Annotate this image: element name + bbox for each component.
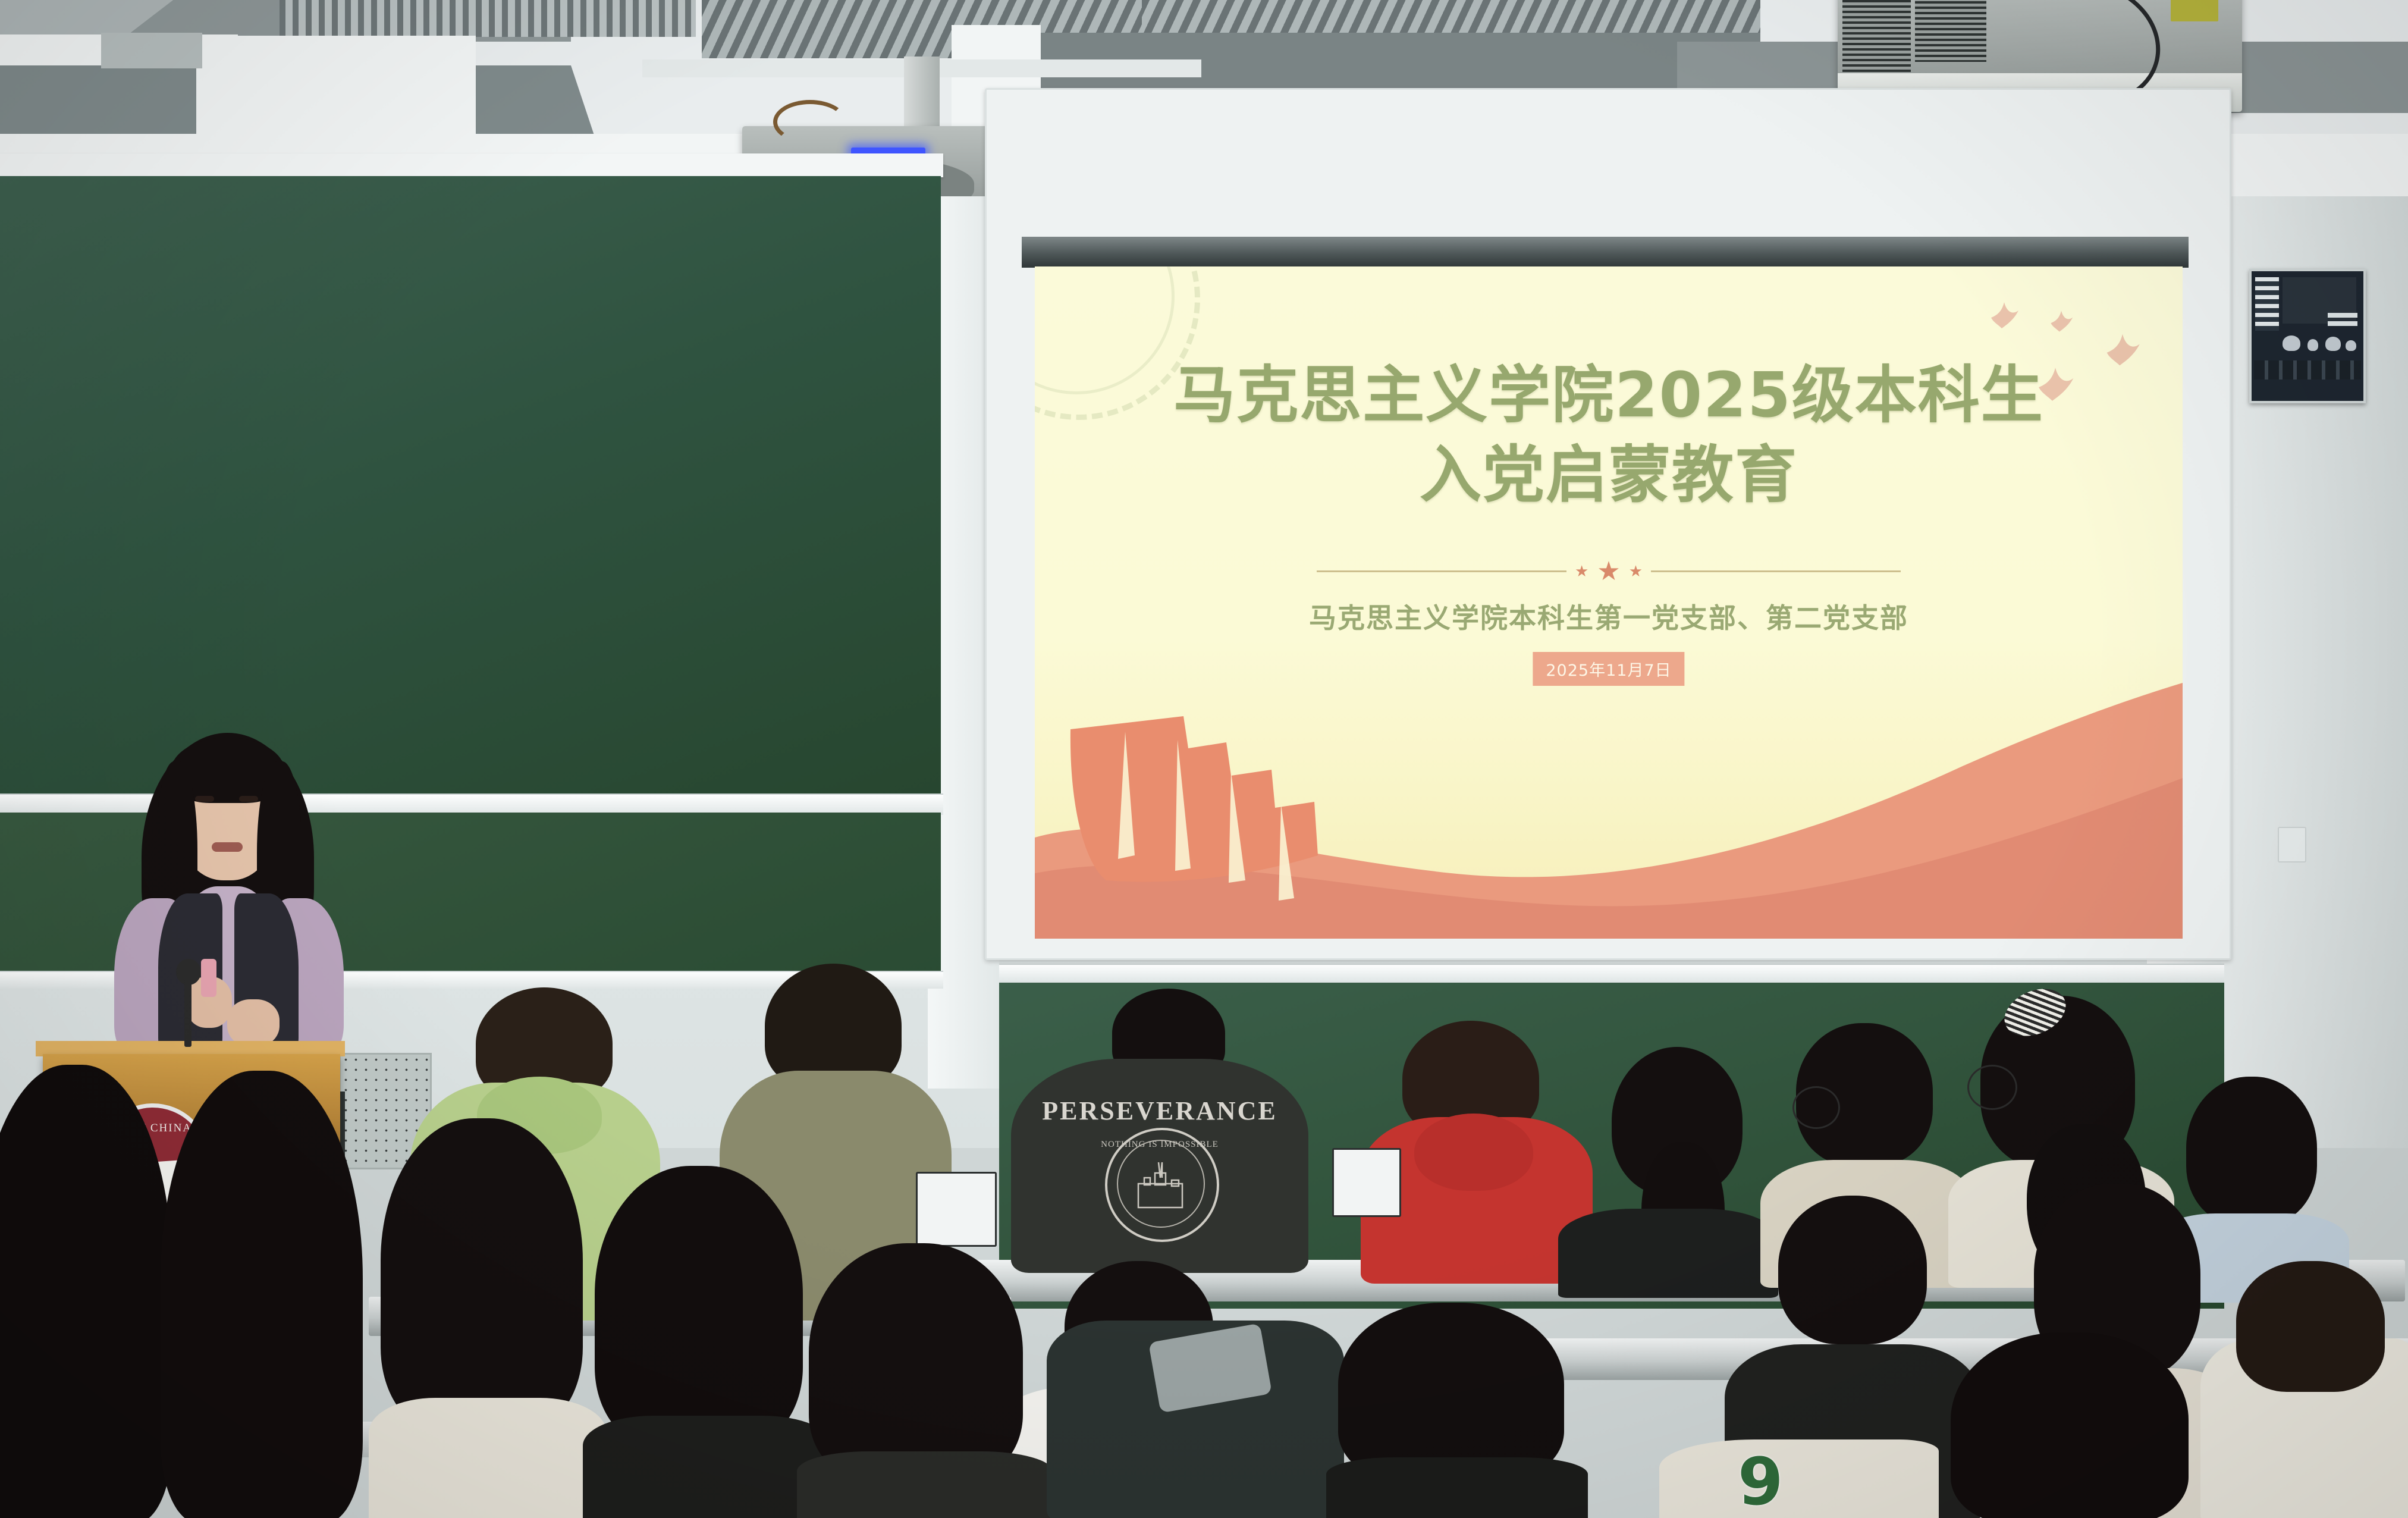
control-panel-indicator [2328,321,2357,326]
ceiling-panel [101,33,202,68]
student-hair [1338,1303,1564,1481]
student-front-center-2 [583,1166,833,1518]
slide-hills-decor [1035,659,2183,939]
presenter-eye-left [195,796,214,802]
student-hair [1778,1196,1927,1344]
jacket-building-icon [1128,1160,1193,1210]
dove-icon [1986,297,2022,333]
control-panel-indicator [2328,313,2357,318]
student-front-dark [1326,1303,1588,1518]
microphone-icon [176,959,201,985]
student-hair [381,1118,583,1428]
blackboard-right-top-rail [999,964,2224,983]
glasses-icon [1967,1065,2017,1110]
control-panel-slider-bank[interactable] [2255,277,2279,331]
wall-outlet[interactable] [2278,827,2306,862]
ceiling-vent [280,0,696,37]
student-perseverance-jacket: PERSEVERANCE NOTHING IS IMPOSSIBLE [1005,1011,1314,1273]
student-hair [0,1065,172,1518]
microphone-stand [184,976,191,1047]
av-control-panel[interactable] [2249,269,2366,403]
slide-date-badge: 2025年11月7日 [1533,652,1684,686]
student-front-right [797,1243,1053,1518]
student-top [797,1451,1053,1518]
ceiling-soffit [196,36,476,140]
presenter [101,720,351,1053]
student-front-bag [1047,1297,1356,1518]
student-hair [2236,1261,2385,1392]
garment-logo-9: 9 [1738,1449,1784,1514]
slide-subtitle: 马克思主义学院本科生第一党支部、第二党支部 [1035,597,2183,636]
student-top [1326,1457,1588,1518]
control-panel-button-row[interactable] [2254,360,2361,379]
blackboard-upper [0,176,941,801]
slide-title-line1: 马克思主义学院2025级本科生 [1035,356,2183,435]
student-front-edge-right [2200,1267,2408,1518]
projection-screen: 马克思主义学院2025级本科生 入党启蒙教育 ★ ★ ★ 马克思主义学院本科生第… [1035,266,2183,939]
projector-vent-grill [1915,0,1986,62]
student-hair [595,1166,803,1445]
student-hair [809,1243,1023,1481]
student-front-left-2 [149,1071,387,1518]
student-top [369,1398,607,1518]
control-panel-knob[interactable] [2307,339,2318,351]
student-hair [1951,1332,2189,1518]
jacket-text: PERSEVERANCE [1005,1096,1314,1126]
laptop[interactable] [1332,1148,1401,1217]
student-hair [161,1071,363,1518]
laptop[interactable] [916,1172,997,1247]
blackboard-top-frame [0,153,943,177]
lecture-hall-photo: 马克思主义学院2025级本科生 入党启蒙教育 ★ ★ ★ 马克思主义学院本科生第… [0,0,2408,1518]
star-icon: ★ [1597,556,1620,586]
student-cream-logo-garment: 9 [1659,1428,1969,1518]
student-top [1659,1439,1939,1518]
divider-rule-right [1651,570,1901,572]
screen-roller-bar [1022,237,2189,268]
slide-title-line2: 入党启蒙教育 [1035,435,2183,515]
control-panel-knob[interactable] [2283,335,2300,351]
jacket-seal-text: NOTHING IS IMPOSSIBLE [1005,1140,1314,1150]
student-front-center [369,1118,607,1518]
student-hair [765,964,902,1089]
presenter-clicker[interactable] [201,959,216,997]
student-front-far-right [1939,1332,2218,1518]
projector-label-sticker [2171,0,2218,21]
presenter-hand-right [227,999,280,1047]
projector-cable [773,100,847,144]
star-icon: ★ [1629,562,1643,581]
control-panel-knob[interactable] [2346,340,2356,351]
presenter-mouth [212,842,243,852]
star-icon: ★ [1575,562,1588,581]
student-top [583,1416,833,1518]
dove-icon [2047,307,2076,335]
divider-rule-left [1317,570,1566,572]
slide-divider: ★ ★ ★ [1035,556,2183,586]
control-panel-knob[interactable] [2325,337,2341,351]
presenter-eye-right [239,796,258,802]
hoodie-hood [1414,1114,1533,1191]
glasses-icon [1792,1086,1840,1129]
